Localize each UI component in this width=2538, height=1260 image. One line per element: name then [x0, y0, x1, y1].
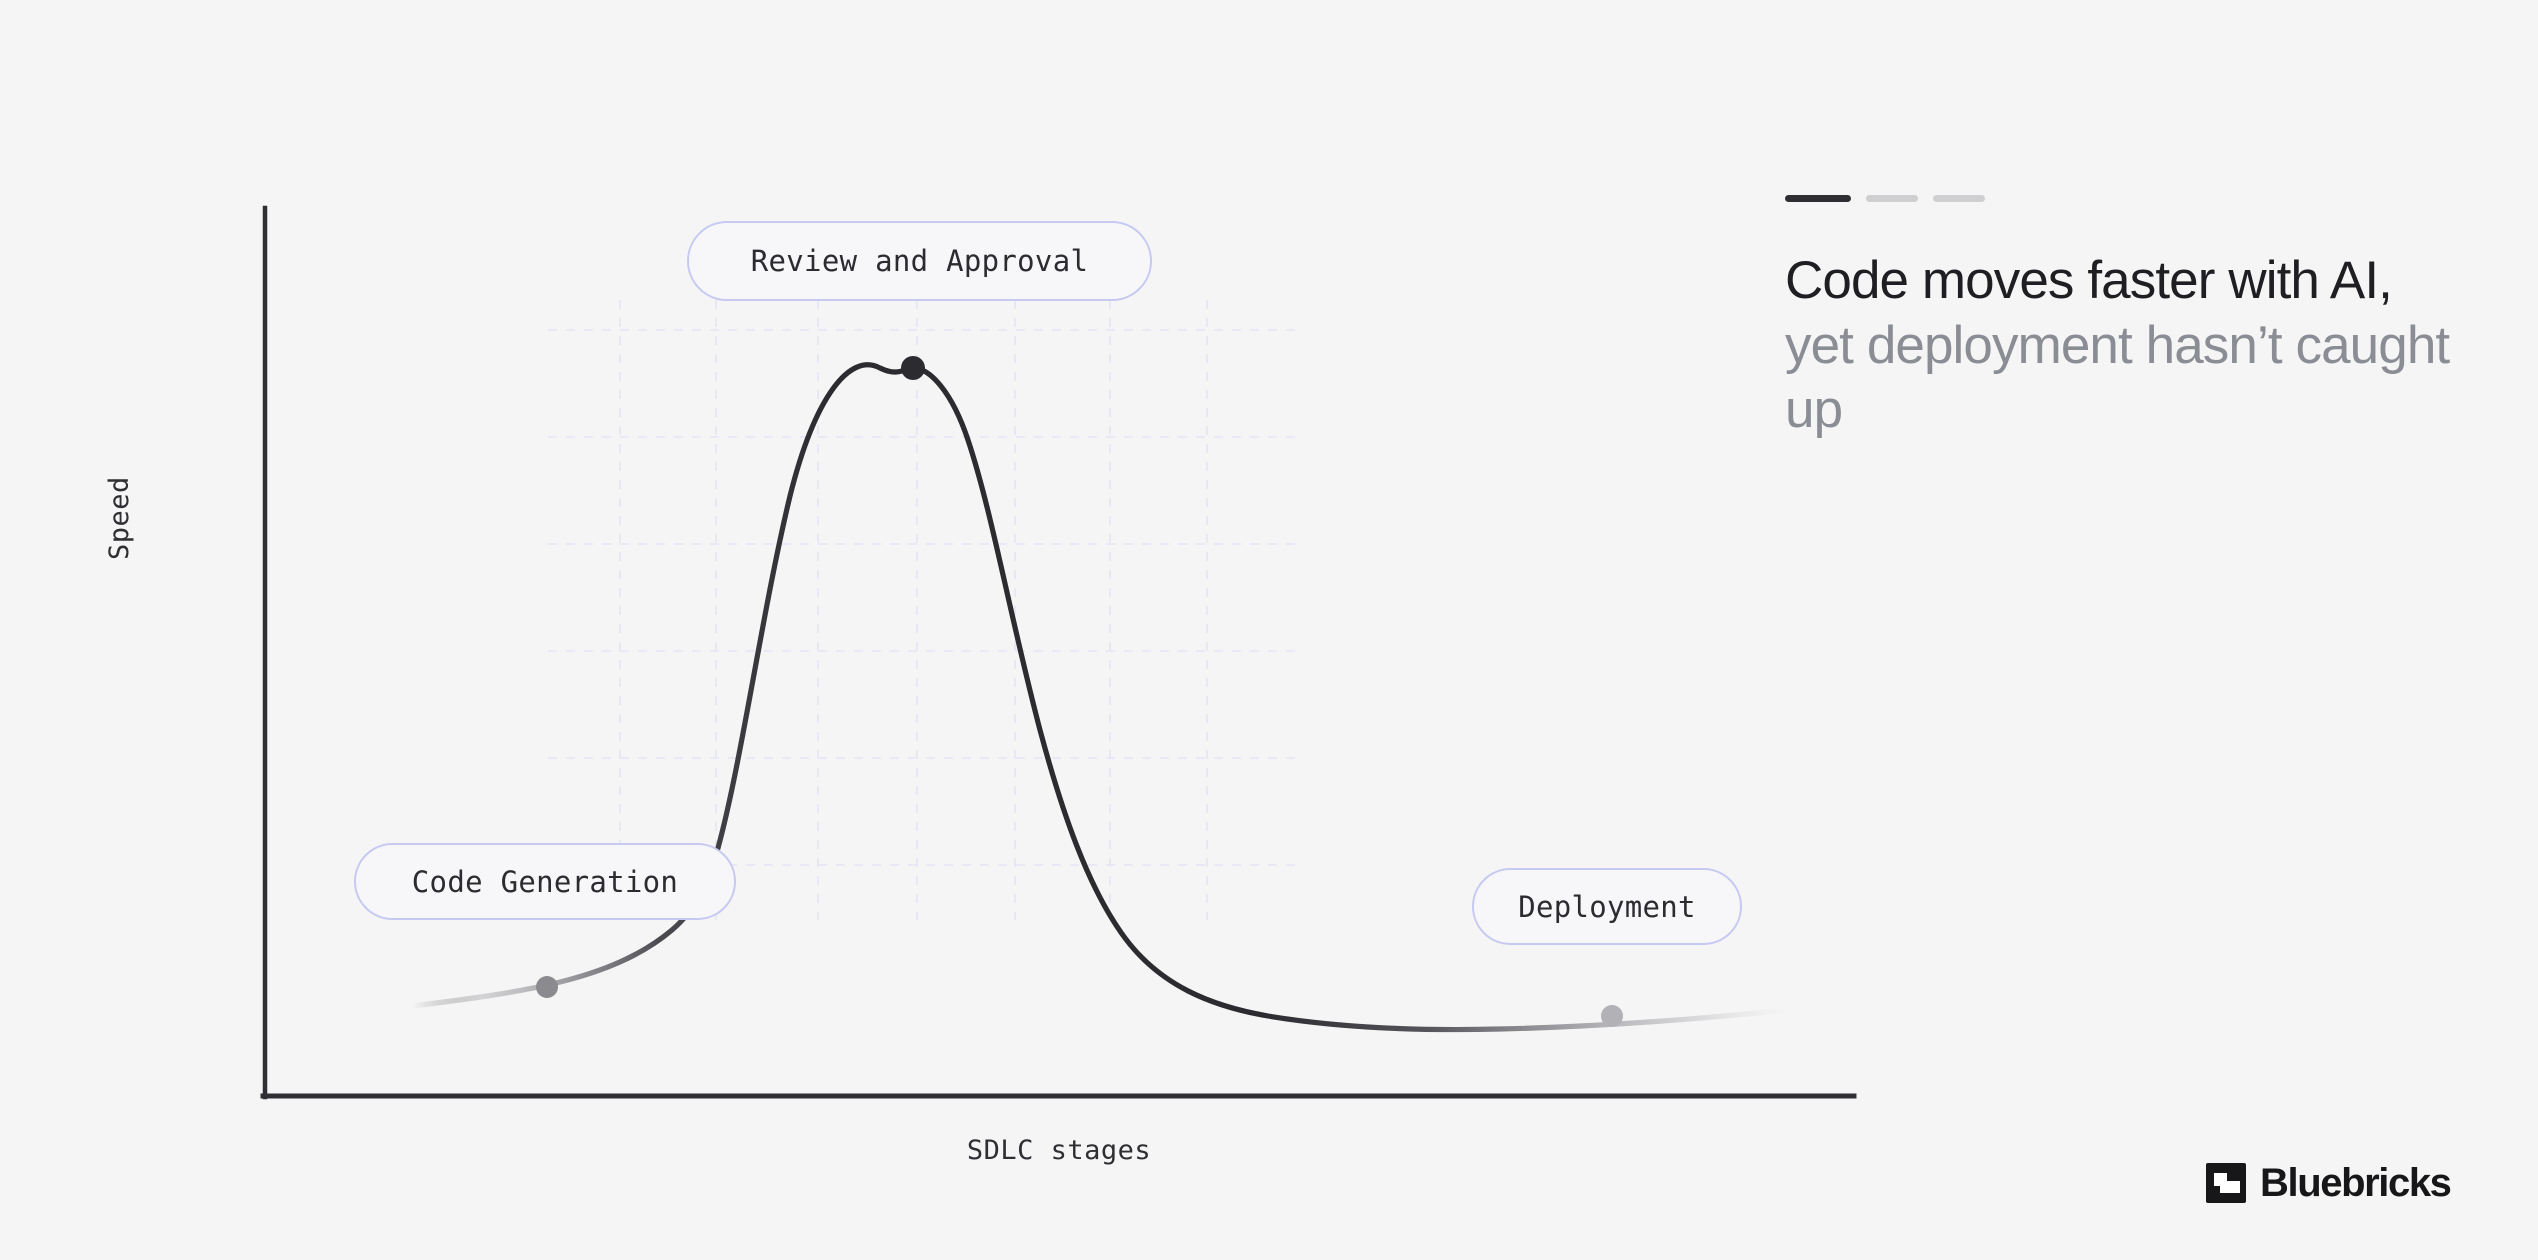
- chart-gridlines: [548, 300, 1300, 920]
- bluebricks-logo-icon: [2206, 1163, 2246, 1203]
- headline-rest: yet deployment hasn’t caught up: [1785, 316, 2449, 440]
- label-pill-deployment[interactable]: Deployment: [1472, 868, 1742, 945]
- slide-root: Speed SDLC stages Code Generation Review…: [0, 0, 2538, 1260]
- headline-lead: Code moves faster with AI,: [1785, 251, 2392, 310]
- label-pill-code-generation[interactable]: Code Generation: [354, 843, 736, 920]
- logo-brick-wide: [2220, 1181, 2240, 1193]
- deployment-point[interactable]: [1601, 1005, 1623, 1027]
- chart-panel: Speed SDLC stages Code Generation Review…: [0, 0, 1880, 1260]
- y-axis-title: Speed: [104, 476, 135, 560]
- progress-dash-2[interactable]: [1866, 195, 1918, 202]
- headline: Code moves faster with AI, yet deploymen…: [1785, 249, 2465, 443]
- chart-axes: [263, 208, 1854, 1097]
- review-and-approval-point[interactable]: [901, 356, 925, 380]
- x-axis-title: SDLC stages: [264, 1135, 1854, 1166]
- label-pill-review-and-approval[interactable]: Review and Approval: [687, 221, 1152, 301]
- progress-dash-3[interactable]: [1933, 195, 1985, 202]
- bluebricks-logo[interactable]: Bluebricks: [2206, 1163, 2451, 1203]
- speed-vs-sdlc-stages-chart: [0, 0, 1880, 1260]
- copy-panel: Code moves faster with AI, yet deploymen…: [1785, 195, 2465, 478]
- progress-dash-1[interactable]: [1785, 195, 1851, 202]
- code-generation-point[interactable]: [536, 976, 558, 998]
- bluebricks-wordmark: Bluebricks: [2260, 1163, 2451, 1203]
- slide-progress-indicator[interactable]: [1785, 195, 2465, 202]
